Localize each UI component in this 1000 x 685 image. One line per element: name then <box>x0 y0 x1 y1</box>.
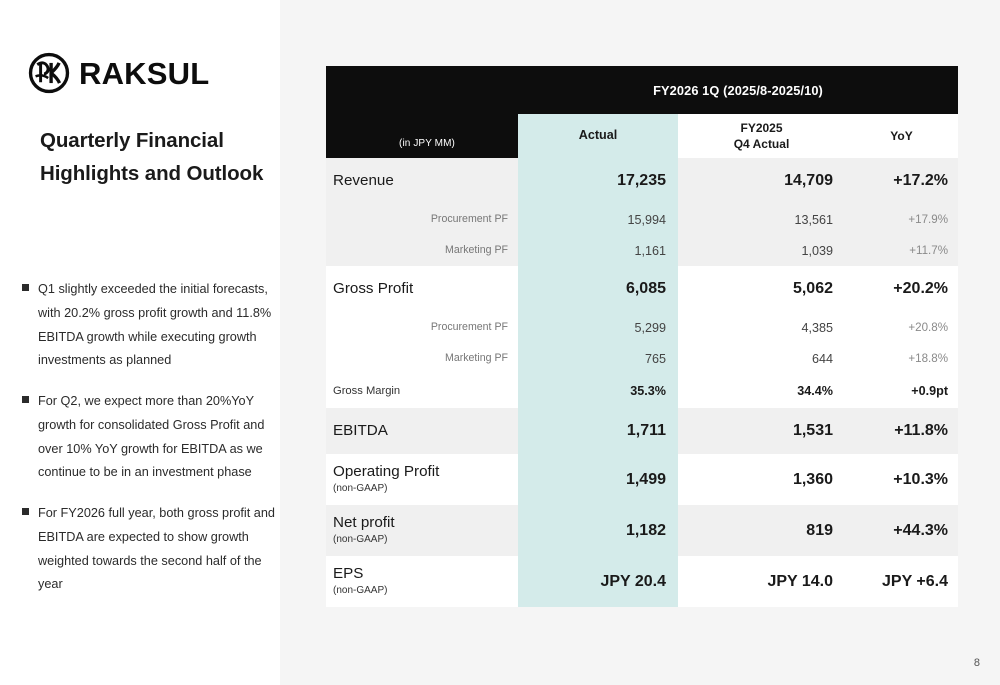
row-label: Revenue <box>333 173 508 190</box>
cell-yoy: +20.8% <box>845 312 958 343</box>
row-label-cell: Revenue <box>326 158 518 204</box>
table-row: Net profit(non-GAAP)1,182819+44.3% <box>326 505 958 556</box>
cell-prev: 1,531 <box>678 408 845 454</box>
cell-actual: 1,499 <box>518 454 678 505</box>
list-item-text: Q1 slightly exceeded the initial forecas… <box>38 278 280 373</box>
row-label-note: (non-GAAP) <box>333 482 508 495</box>
cell-actual: 1,161 <box>518 235 678 266</box>
row-label: Net profit <box>333 515 508 532</box>
cell-yoy: +0.9pt <box>845 374 958 408</box>
column-header-actual-label: Actual <box>579 128 618 142</box>
square-bullet-icon <box>22 508 38 515</box>
row-label: EPS <box>333 566 508 583</box>
cell-yoy: +44.3% <box>845 505 958 556</box>
table-row: EPS(non-GAAP)JPY 20.4JPY 14.0JPY +6.4 <box>326 556 958 607</box>
row-label: Gross Margin <box>333 385 508 397</box>
financial-summary-table: (in JPY MM) FY2026 1Q (2025/8-2025/10) A… <box>326 66 958 607</box>
cell-prev: 14,709 <box>678 158 845 204</box>
cell-yoy: +17.2% <box>845 158 958 204</box>
square-bullet-icon <box>22 284 38 291</box>
column-header-prev-line1: FY2025 <box>740 121 782 135</box>
square-bullet-icon <box>22 396 38 403</box>
raksul-circle-monogram-icon <box>28 52 70 94</box>
table-unit-cell: (in JPY MM) <box>326 66 518 158</box>
table-row: Gross Profit6,0855,062+20.2% <box>326 266 958 312</box>
table-row: Revenue17,23514,709+17.2% <box>326 158 958 204</box>
cell-actual: JPY 20.4 <box>518 556 678 607</box>
page-title: Quarterly Financial Highlights and Outlo… <box>40 124 276 190</box>
cell-actual: 17,235 <box>518 158 678 204</box>
row-label: EBITDA <box>333 423 508 440</box>
row-label-cell: EBITDA <box>326 408 518 454</box>
row-label-cell: Procurement PF <box>326 312 518 343</box>
page-title-line-1: Quarterly Financial <box>40 124 276 157</box>
table-row: EBITDA1,7111,531+11.8% <box>326 408 958 454</box>
table-row: Procurement PF5,2994,385+20.8% <box>326 312 958 343</box>
row-label-cell: Marketing PF <box>326 235 518 266</box>
list-item-text: For Q2, we expect more than 20%YoY growt… <box>38 390 280 485</box>
cell-yoy: +11.7% <box>845 235 958 266</box>
cell-yoy: +17.9% <box>845 204 958 235</box>
cell-prev: 644 <box>678 343 845 374</box>
row-label-cell: Gross Profit <box>326 266 518 312</box>
left-panel: RAKSUL Quarterly Financial Highlights an… <box>0 0 280 685</box>
list-item: For FY2026 full year, both gross profit … <box>22 502 280 597</box>
table-row: Procurement PF15,99413,561+17.9% <box>326 204 958 235</box>
table-period-header: FY2026 1Q (2025/8-2025/10) <box>518 66 958 114</box>
cell-actual: 15,994 <box>518 204 678 235</box>
slide-canvas: RAKSUL Quarterly Financial Highlights an… <box>0 0 1000 685</box>
highlights-bullet-list: Q1 slightly exceeded the initial forecas… <box>22 278 280 614</box>
row-label: Operating Profit <box>333 464 508 481</box>
cell-prev: 4,385 <box>678 312 845 343</box>
table-row: Gross Margin35.3%34.4%+0.9pt <box>326 374 958 408</box>
list-item-text: For FY2026 full year, both gross profit … <box>38 502 280 597</box>
cell-actual: 765 <box>518 343 678 374</box>
cell-prev: JPY 14.0 <box>678 556 845 607</box>
row-label-cell: Marketing PF <box>326 343 518 374</box>
table-row: Marketing PF1,1611,039+11.7% <box>326 235 958 266</box>
page-number: 8 <box>974 657 980 669</box>
row-label: Marketing PF <box>333 353 508 365</box>
brand-logo: RAKSUL <box>28 52 209 94</box>
cell-actual: 6,085 <box>518 266 678 312</box>
cell-yoy: +20.2% <box>845 266 958 312</box>
cell-prev: 1,360 <box>678 454 845 505</box>
cell-prev: 34.4% <box>678 374 845 408</box>
row-label-cell: Operating Profit(non-GAAP) <box>326 454 518 505</box>
row-label-cell: Gross Margin <box>326 374 518 408</box>
cell-prev: 5,062 <box>678 266 845 312</box>
cell-prev: 1,039 <box>678 235 845 266</box>
row-label-cell: Procurement PF <box>326 204 518 235</box>
cell-yoy: +10.3% <box>845 454 958 505</box>
column-header-yoy-label: YoY <box>890 129 912 143</box>
row-label-cell: EPS(non-GAAP) <box>326 556 518 607</box>
table-unit-label: (in JPY MM) <box>336 138 518 158</box>
brand-wordmark: RAKSUL <box>79 58 209 89</box>
cell-prev: 13,561 <box>678 204 845 235</box>
table-row: Marketing PF765644+18.8% <box>326 343 958 374</box>
cell-actual: 5,299 <box>518 312 678 343</box>
row-label: Marketing PF <box>333 245 508 257</box>
cell-actual: 1,182 <box>518 505 678 556</box>
cell-yoy: JPY +6.4 <box>845 556 958 607</box>
row-label: Gross Profit <box>333 281 508 298</box>
column-header-yoy: YoY <box>845 114 958 158</box>
cell-actual: 35.3% <box>518 374 678 408</box>
cell-yoy: +18.8% <box>845 343 958 374</box>
row-label: Procurement PF <box>333 322 508 334</box>
table-header: (in JPY MM) FY2026 1Q (2025/8-2025/10) A… <box>326 66 958 158</box>
row-label-note: (non-GAAP) <box>333 533 508 546</box>
table-row: Operating Profit(non-GAAP)1,4991,360+10.… <box>326 454 958 505</box>
row-label-cell: Net profit(non-GAAP) <box>326 505 518 556</box>
cell-prev: 819 <box>678 505 845 556</box>
column-header-prev: FY2025 Q4 Actual <box>678 114 845 158</box>
column-header-prev-line2: Q4 Actual <box>734 137 790 151</box>
cell-yoy: +11.8% <box>845 408 958 454</box>
list-item: For Q2, we expect more than 20%YoY growt… <box>22 390 280 485</box>
list-item: Q1 slightly exceeded the initial forecas… <box>22 278 280 373</box>
row-label-note: (non-GAAP) <box>333 584 508 597</box>
page-title-line-2: Highlights and Outlook <box>40 157 276 190</box>
column-header-actual: Actual <box>518 114 678 158</box>
table-body: Revenue17,23514,709+17.2%Procurement PF1… <box>326 158 958 607</box>
row-label: Procurement PF <box>333 214 508 226</box>
cell-actual: 1,711 <box>518 408 678 454</box>
